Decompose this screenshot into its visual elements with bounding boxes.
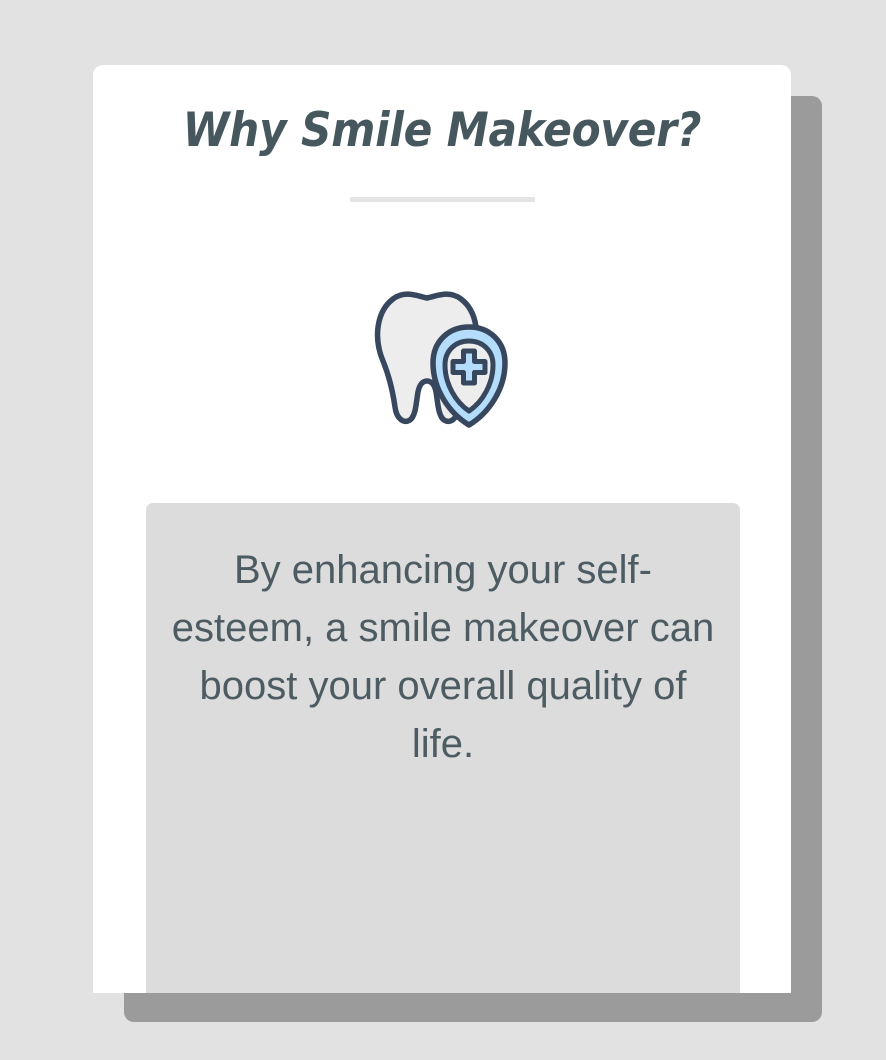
smile-makeover-card: Why Smile Makeover? By enhancing your se…	[93, 65, 791, 993]
title-divider	[350, 197, 535, 202]
tooth-shield-icon-svg	[357, 285, 527, 435]
slide-stage: Why Smile Makeover? By enhancing your se…	[0, 0, 886, 1060]
body-text: By enhancing your self-esteem, a smile m…	[166, 541, 720, 773]
content-panel: By enhancing your self-esteem, a smile m…	[146, 503, 740, 993]
tooth-shield-icon	[93, 275, 791, 445]
page-title: Why Smile Makeover?	[93, 105, 791, 157]
